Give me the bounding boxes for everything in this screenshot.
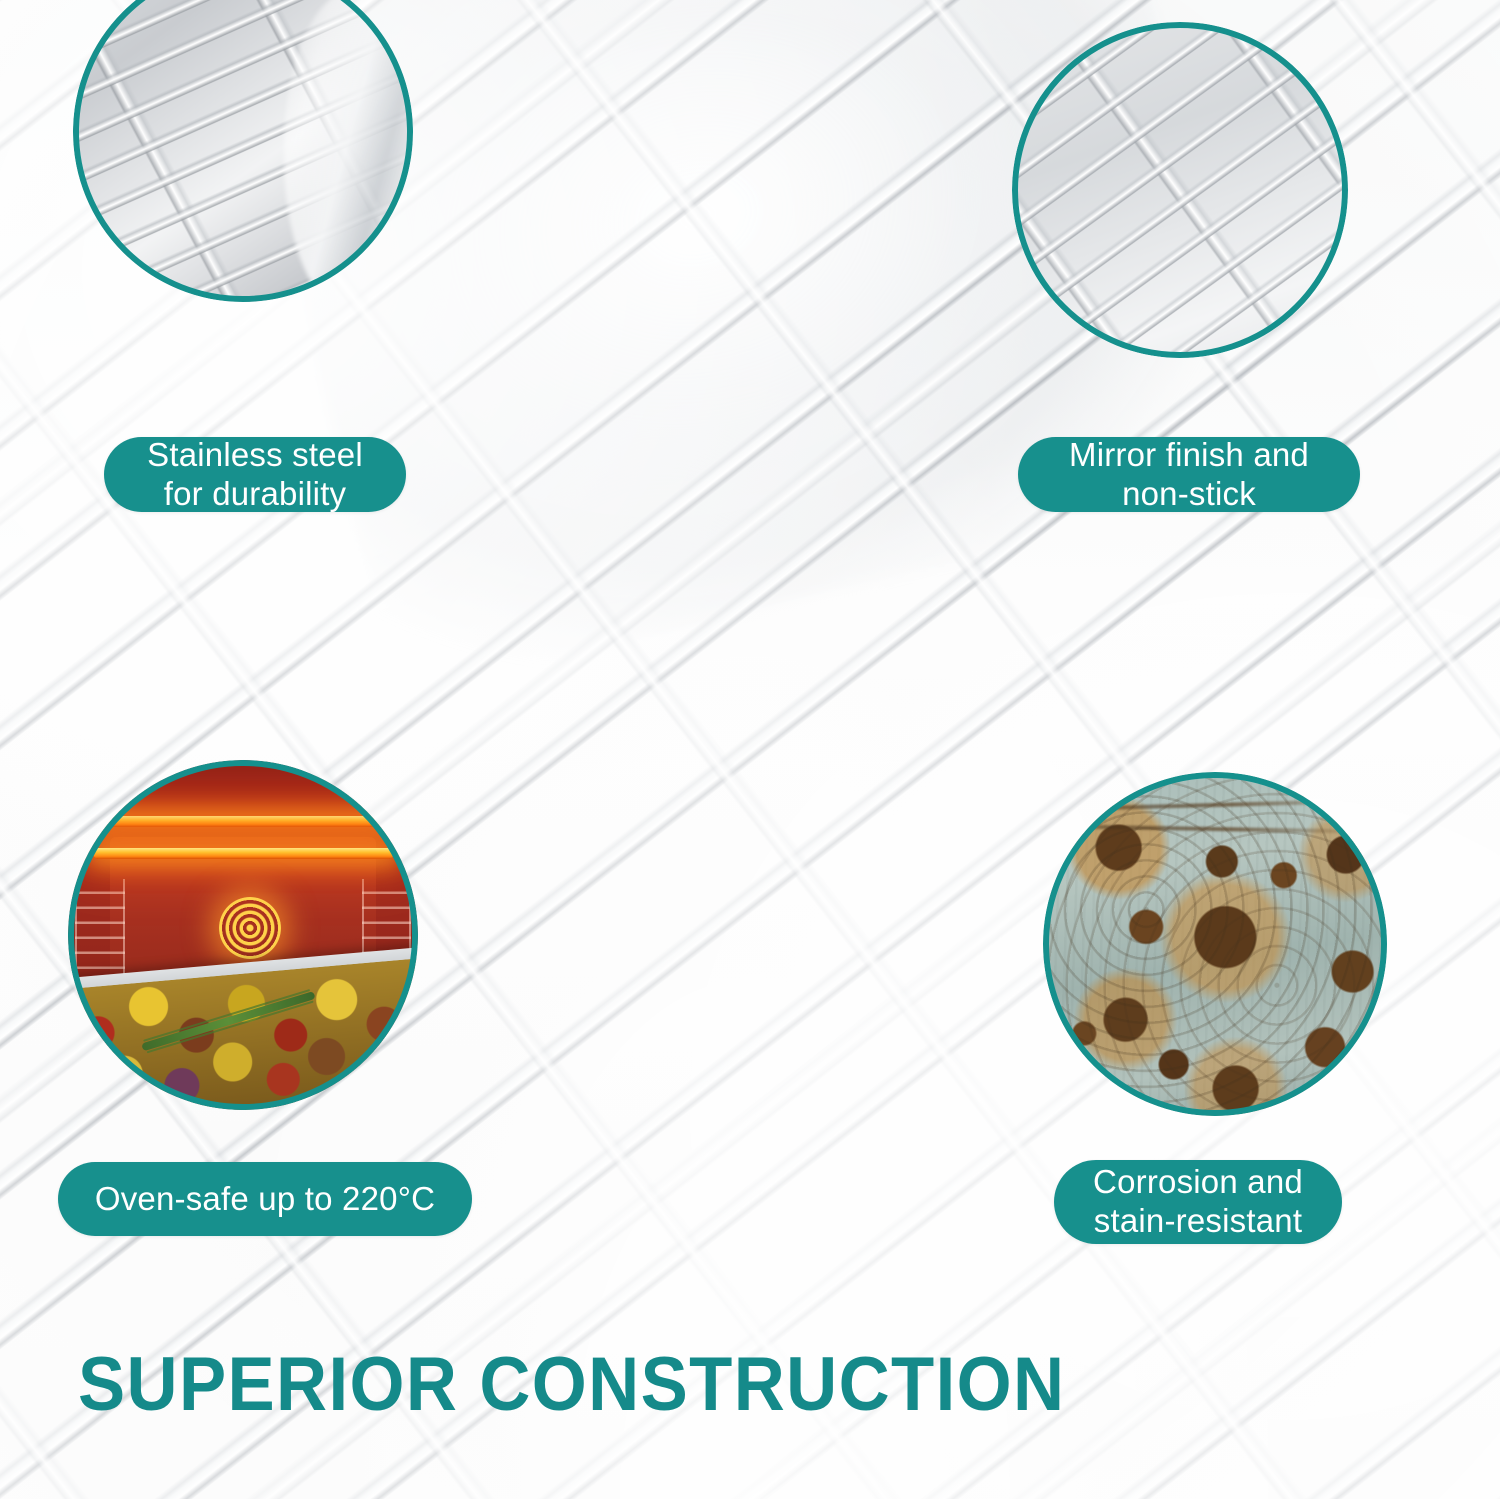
feature-image-oven-safe [68, 760, 418, 1110]
page-title: SUPERIOR CONSTRUCTION [78, 1347, 1065, 1423]
heat-spiral-icon [219, 897, 281, 959]
heating-element-second [93, 848, 394, 859]
feature-badge-oven-safe-label: Oven-safe up to 220°C [95, 1180, 435, 1219]
feature-badge-corrosion-resistant: Corrosion andstain-resistant [1054, 1160, 1342, 1244]
rust-speckle-overlay [1043, 772, 1387, 1116]
feature-image-stainless-steel [73, 0, 413, 302]
heating-element-top [93, 816, 394, 827]
feature-badge-stainless-steel-label: Stainless steelfor durability [147, 436, 363, 514]
feature-image-mirror-finish-photo [1012, 22, 1348, 358]
mesh-grid-texture [1012, 22, 1348, 358]
pan-rim-highlight [284, 0, 413, 302]
feature-image-mirror-finish [1012, 22, 1348, 358]
feature-badge-corrosion-resistant-label: Corrosion andstain-resistant [1093, 1163, 1303, 1241]
feature-badge-mirror-finish: Mirror finish andnon-stick [1018, 437, 1360, 512]
feature-badge-oven-safe: Oven-safe up to 220°C [58, 1162, 472, 1236]
product-feature-infographic: Stainless steelfor durability Mirror fin… [0, 0, 1500, 1499]
roasted-vegetables [68, 957, 418, 1110]
feature-badge-stainless-steel: Stainless steelfor durability [104, 437, 406, 512]
feature-image-corrosion-photo [1043, 772, 1387, 1116]
feature-image-stainless-steel-photo [73, 0, 413, 302]
feature-image-corrosion-resistant [1043, 772, 1387, 1116]
feature-image-oven-safe-photo [68, 760, 418, 1110]
feature-badge-mirror-finish-label: Mirror finish andnon-stick [1069, 436, 1309, 514]
